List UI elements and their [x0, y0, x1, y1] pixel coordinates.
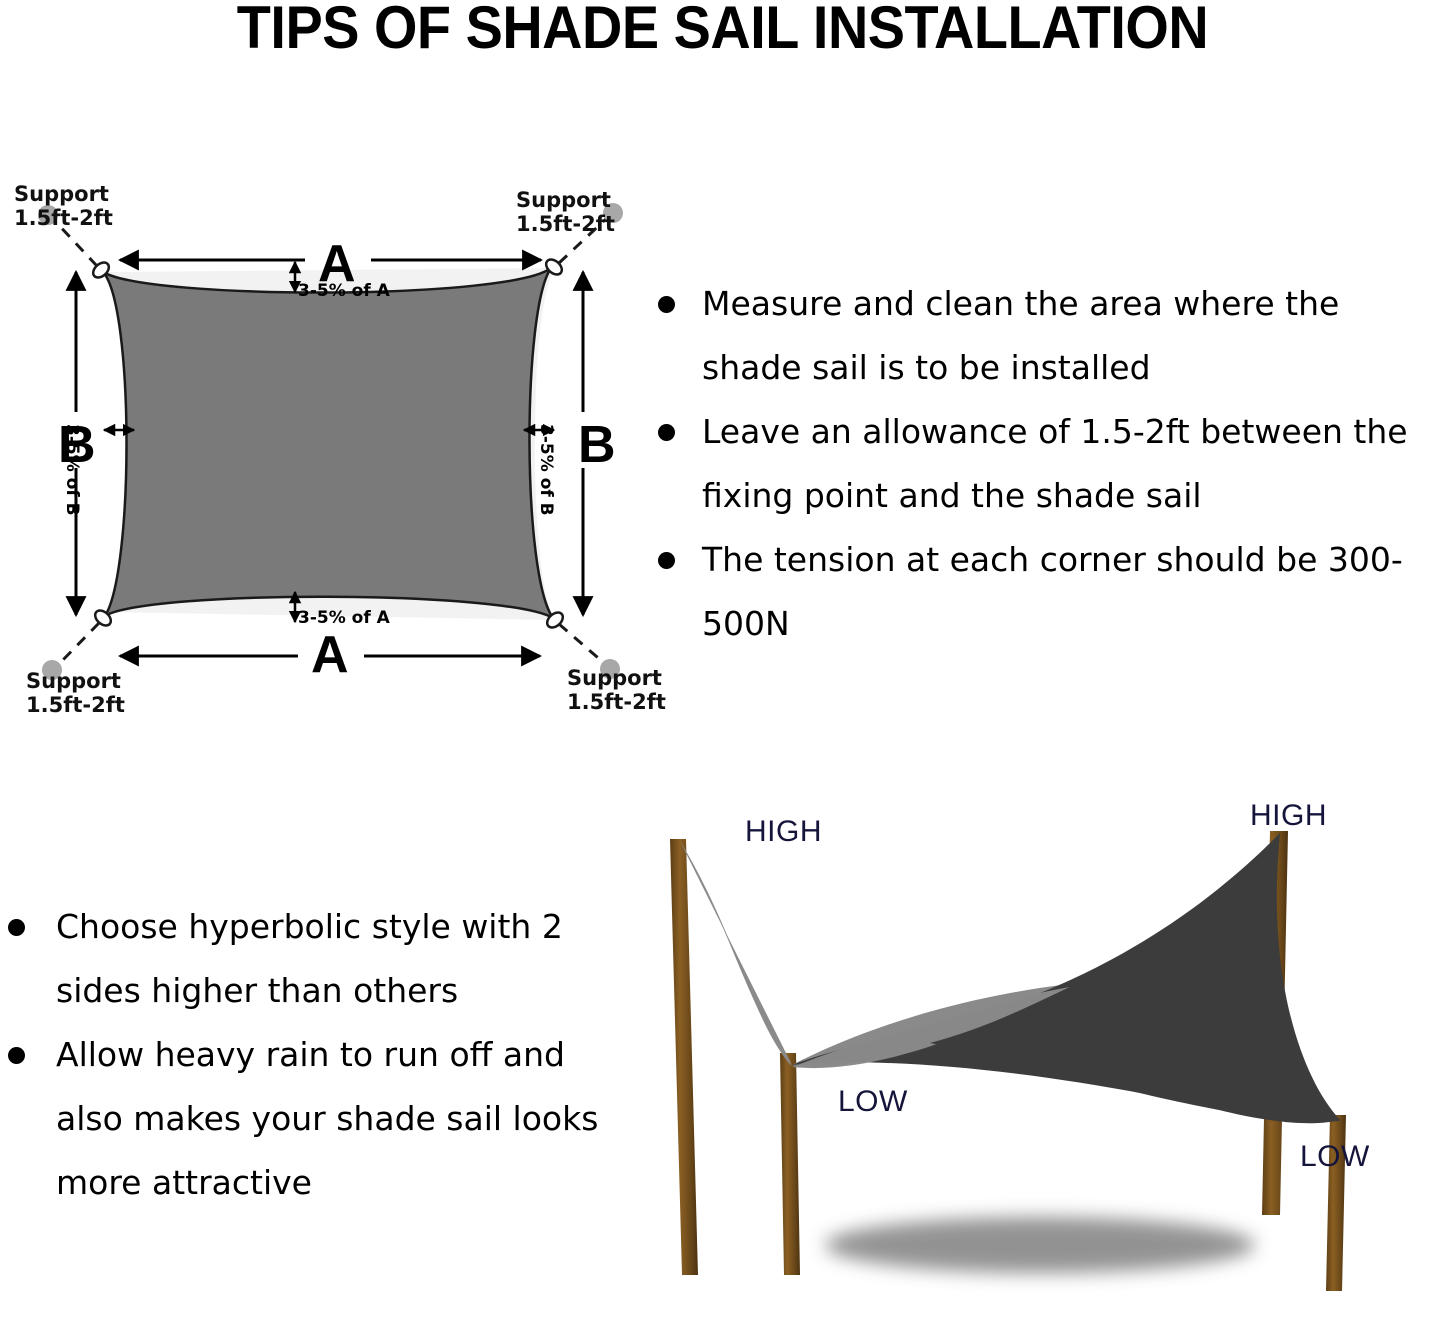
- tips-list-bottom: Choose hyperbolic style with 2 sides hig…: [0, 895, 630, 1215]
- label-high-left: HIGH: [745, 815, 822, 849]
- label-high-right: HIGH: [1250, 799, 1327, 833]
- support-label-line2: 1.5ft-2ft: [567, 690, 666, 714]
- support-label-line1: Support: [26, 669, 125, 693]
- list-item: Choose hyperbolic style with 2 sides hig…: [0, 895, 630, 1023]
- sag-label-top: 3-5% of A: [298, 281, 390, 301]
- sag-label-right: 3-5% of B: [536, 424, 556, 516]
- support-label-top-right: Support 1.5ft-2ft: [516, 188, 615, 236]
- list-item: Measure and clean the area where the sha…: [646, 272, 1445, 400]
- dimension-label-b-right: B: [578, 419, 616, 471]
- label-low-right: LOW: [1300, 1140, 1370, 1174]
- tether-bottom-right: [559, 624, 604, 663]
- sag-label-bottom: 3-5% of A: [298, 608, 390, 628]
- hyperbolic-sail-diagram: HIGH HIGH LOW LOW: [640, 775, 1445, 1319]
- support-label-line2: 1.5ft-2ft: [26, 693, 125, 717]
- hyperbolic-sail-graphic: [640, 775, 1445, 1319]
- list-item: The tension at each corner should be 300…: [646, 528, 1445, 656]
- dimension-label-a-bottom: A: [311, 629, 349, 681]
- sag-label-left: 3-5% of B: [62, 424, 82, 516]
- ground-shadow: [825, 1217, 1255, 1273]
- support-label-line1: Support: [14, 182, 113, 206]
- support-label-bottom-right: Support 1.5ft-2ft: [567, 666, 666, 714]
- page-title: TIPS OF SHADE SAIL INSTALLATION: [51, 0, 1395, 59]
- tips-list-right: Measure and clean the area where the sha…: [646, 272, 1445, 656]
- support-label-line2: 1.5ft-2ft: [516, 212, 615, 236]
- support-label-bottom-left: Support 1.5ft-2ft: [26, 669, 125, 717]
- list-item: Allow heavy rain to run off and also mak…: [0, 1023, 630, 1215]
- label-low-left: LOW: [838, 1085, 908, 1119]
- support-label-line2: 1.5ft-2ft: [14, 206, 113, 230]
- support-label-top-left: Support 1.5ft-2ft: [14, 182, 113, 230]
- tether-bottom-left: [58, 623, 99, 665]
- post-high-left: [670, 839, 698, 1275]
- sail-body: [103, 268, 553, 618]
- list-item: Leave an allowance of 1.5-2ft between th…: [646, 400, 1445, 528]
- post-low-left: [780, 1053, 800, 1275]
- support-label-line1: Support: [516, 188, 615, 212]
- support-label-line1: Support: [567, 666, 666, 690]
